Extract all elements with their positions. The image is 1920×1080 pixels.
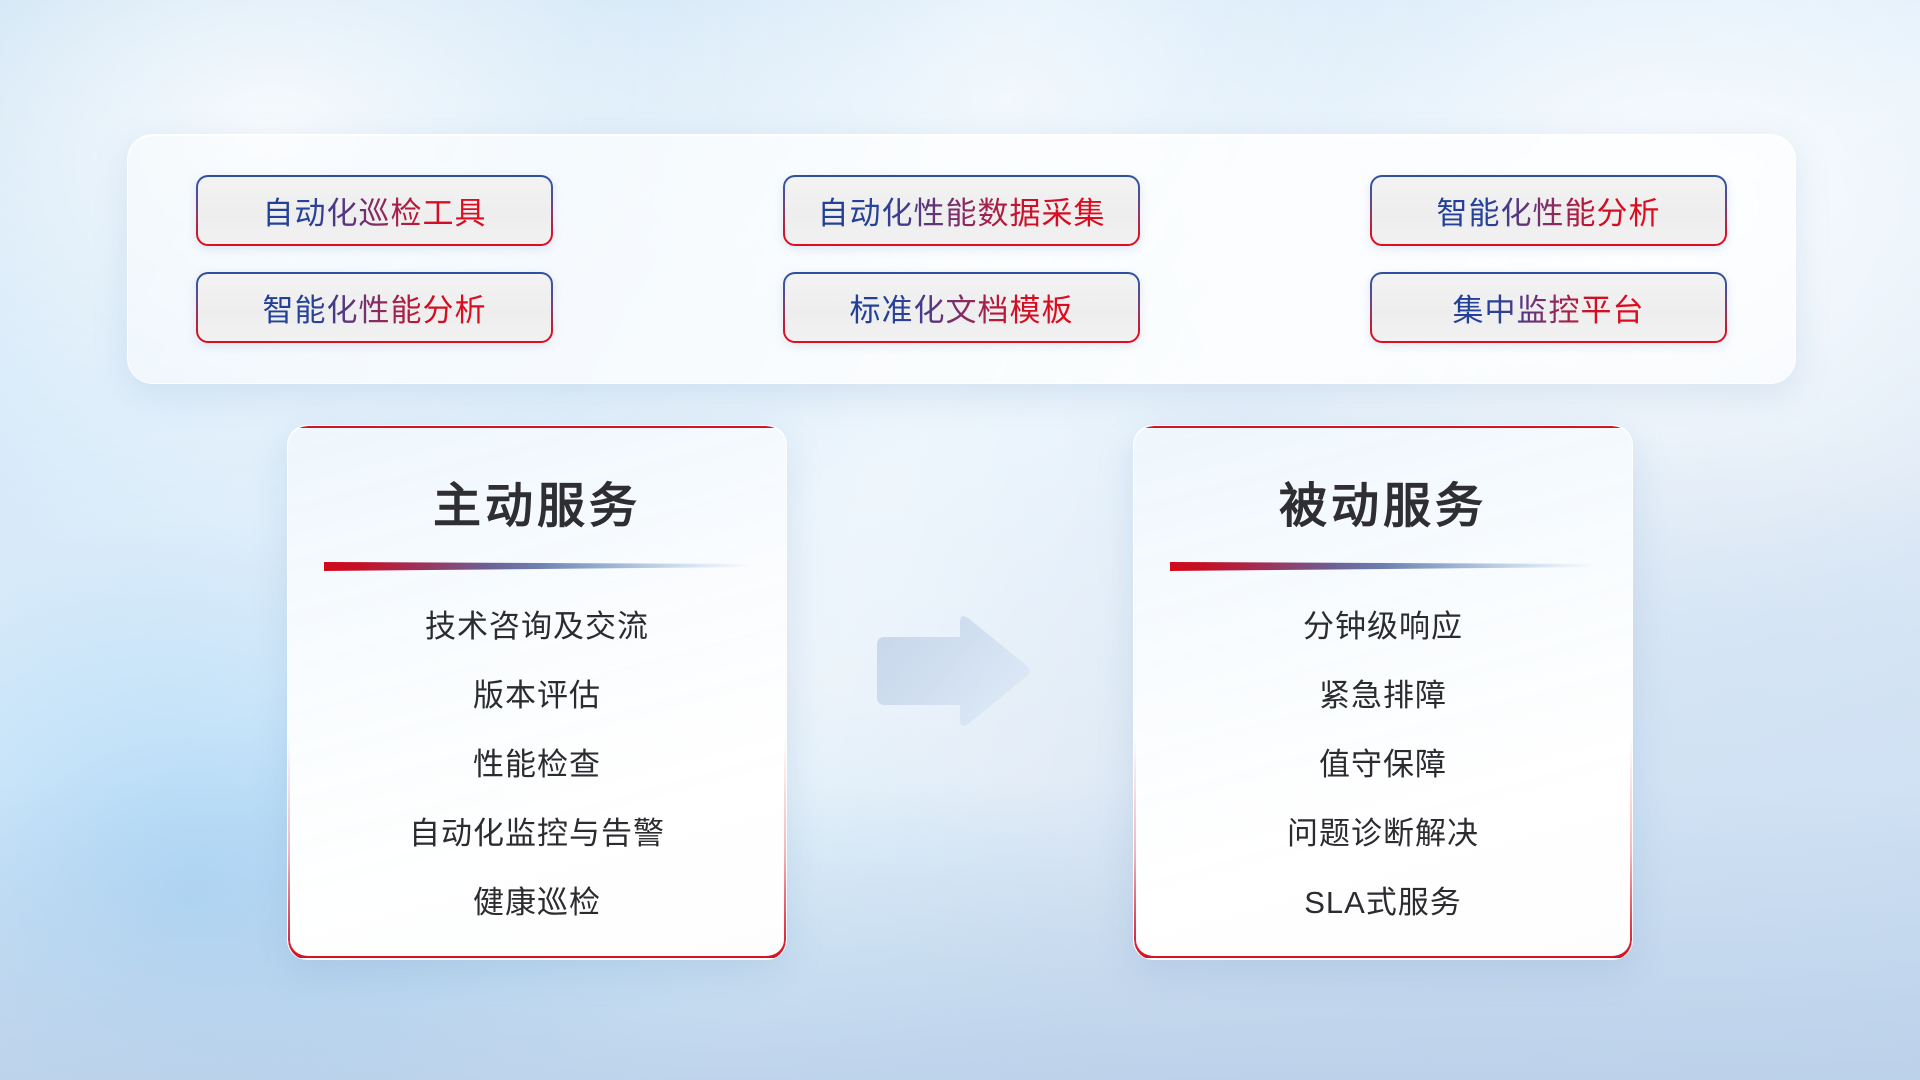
card-title: 主动服务 — [288, 466, 786, 536]
capability-pill[interactable]: 集中监控平台 — [1370, 272, 1727, 343]
list-item: 问题诊断解决 — [1287, 808, 1479, 853]
card-item-list: 分钟级响应 紧急排障 值守保障 问题诊断解决 SLA式服务 — [1134, 601, 1632, 922]
list-item: 健康巡检 — [473, 877, 601, 922]
service-card-passive: 被动服务 分钟级响应 紧急排障 值守保障 问题诊断解决 SLA式服务 — [1133, 425, 1633, 960]
capabilities-panel: 自动化巡检工具 自动化性能数据采集 智能化性能分析 智能化性能分析 标准化文档模… — [127, 134, 1796, 384]
card-divider — [324, 562, 750, 571]
capability-pill[interactable]: 智能化性能分析 — [196, 272, 553, 343]
arrow-right-icon — [867, 612, 1032, 730]
capability-row-1: 自动化巡检工具 自动化性能数据采集 智能化性能分析 — [196, 175, 1727, 246]
card-item-list: 技术咨询及交流 版本评估 性能检查 自动化监控与告警 健康巡检 — [288, 601, 786, 922]
capability-pill-label: 集中监控平台 — [1453, 285, 1645, 330]
capability-pill-inner: 自动化性能数据采集 — [785, 177, 1138, 244]
list-item: 值守保障 — [1319, 739, 1447, 784]
capability-pill-inner: 自动化巡检工具 — [198, 177, 551, 244]
capability-row-2: 智能化性能分析 标准化文档模板 集中监控平台 — [196, 272, 1727, 343]
service-card-active: 主动服务 技术咨询及交流 版本评估 性能检查 自动化监控与告警 健康巡检 — [287, 425, 787, 960]
capability-pill[interactable]: 智能化性能分析 — [1370, 175, 1727, 246]
capability-pill-label: 自动化巡检工具 — [263, 188, 487, 233]
capability-pill-inner: 标准化文档模板 — [785, 274, 1138, 341]
capability-pill-inner: 智能化性能分析 — [198, 274, 551, 341]
capability-pill-label: 智能化性能分析 — [263, 285, 487, 330]
capability-pill[interactable]: 标准化文档模板 — [783, 272, 1140, 343]
capability-pill[interactable]: 自动化巡检工具 — [196, 175, 553, 246]
card-title: 被动服务 — [1134, 466, 1632, 536]
capability-pill-label: 标准化文档模板 — [850, 285, 1074, 330]
list-item: 技术咨询及交流 — [425, 601, 649, 646]
list-item: 版本评估 — [473, 670, 601, 715]
card-divider — [1170, 562, 1596, 571]
list-item: 性能检查 — [473, 739, 601, 784]
list-item: 紧急排障 — [1319, 670, 1447, 715]
capability-pill[interactable]: 自动化性能数据采集 — [783, 175, 1140, 246]
capability-pill-inner: 集中监控平台 — [1372, 274, 1725, 341]
capability-pill-label: 自动化性能数据采集 — [818, 188, 1106, 233]
list-item: 分钟级响应 — [1303, 601, 1463, 646]
list-item: 自动化监控与告警 — [409, 808, 665, 853]
capability-pill-label: 智能化性能分析 — [1437, 188, 1661, 233]
capability-pill-inner: 智能化性能分析 — [1372, 177, 1725, 244]
list-item: SLA式服务 — [1304, 877, 1462, 922]
